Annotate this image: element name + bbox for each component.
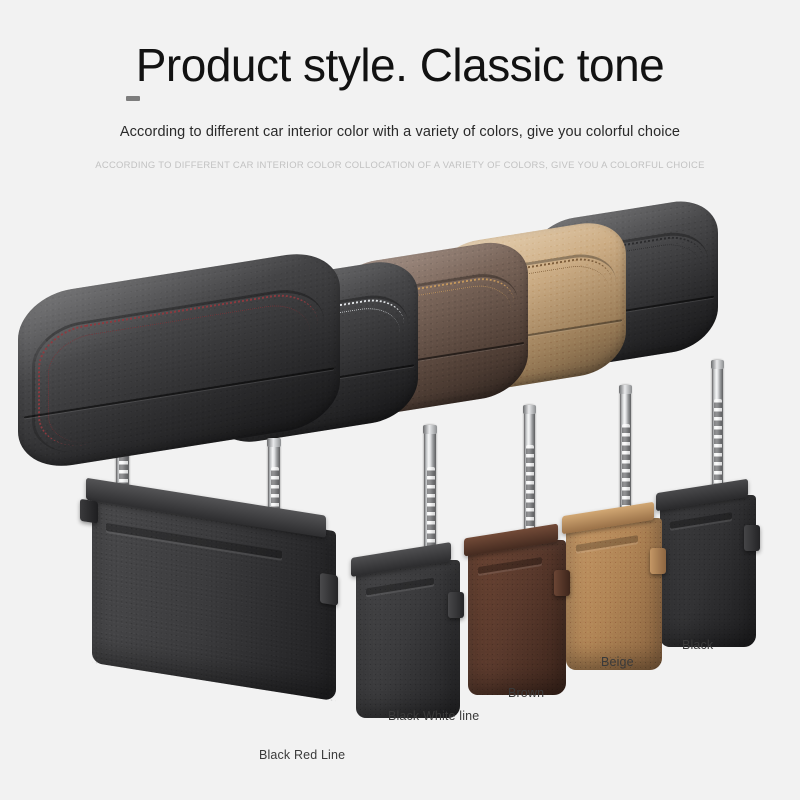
storage-box-brown (468, 540, 566, 695)
variant-label-black-white-line: Black White line (388, 709, 479, 723)
storage-box-black-white-line (356, 560, 460, 718)
storage-box-beige (566, 518, 662, 670)
variant-label-brown: Brown (508, 686, 544, 700)
variant-label-black-red-line: Black Red Line (259, 748, 345, 762)
mounting-clip-right (320, 573, 338, 606)
subtitle-english: According to different car interior colo… (0, 124, 800, 140)
mounting-clip (80, 499, 98, 524)
armrest-cushion-black-red-line (18, 247, 340, 474)
storage-box-black (660, 495, 756, 647)
mounting-clip (448, 592, 464, 618)
subtitle-caps: ACCORDING TO DIFFERENT CAR INTERIOR COLO… (6, 160, 794, 171)
page-title: Product style. Classic tone (0, 40, 800, 91)
decorative-stitching (38, 288, 318, 452)
mounting-clip (554, 570, 570, 596)
mounting-clip (744, 525, 760, 551)
product-showcase-image: Product style. Classic tone According to… (0, 0, 800, 800)
variant-label-black: Black (682, 638, 713, 652)
cushion-surface (18, 247, 340, 474)
variant-label-beige: Beige (601, 655, 634, 669)
storage-box-black-red-line (92, 493, 336, 702)
mounting-clip (650, 548, 666, 574)
title-residual-artifact (126, 96, 140, 101)
